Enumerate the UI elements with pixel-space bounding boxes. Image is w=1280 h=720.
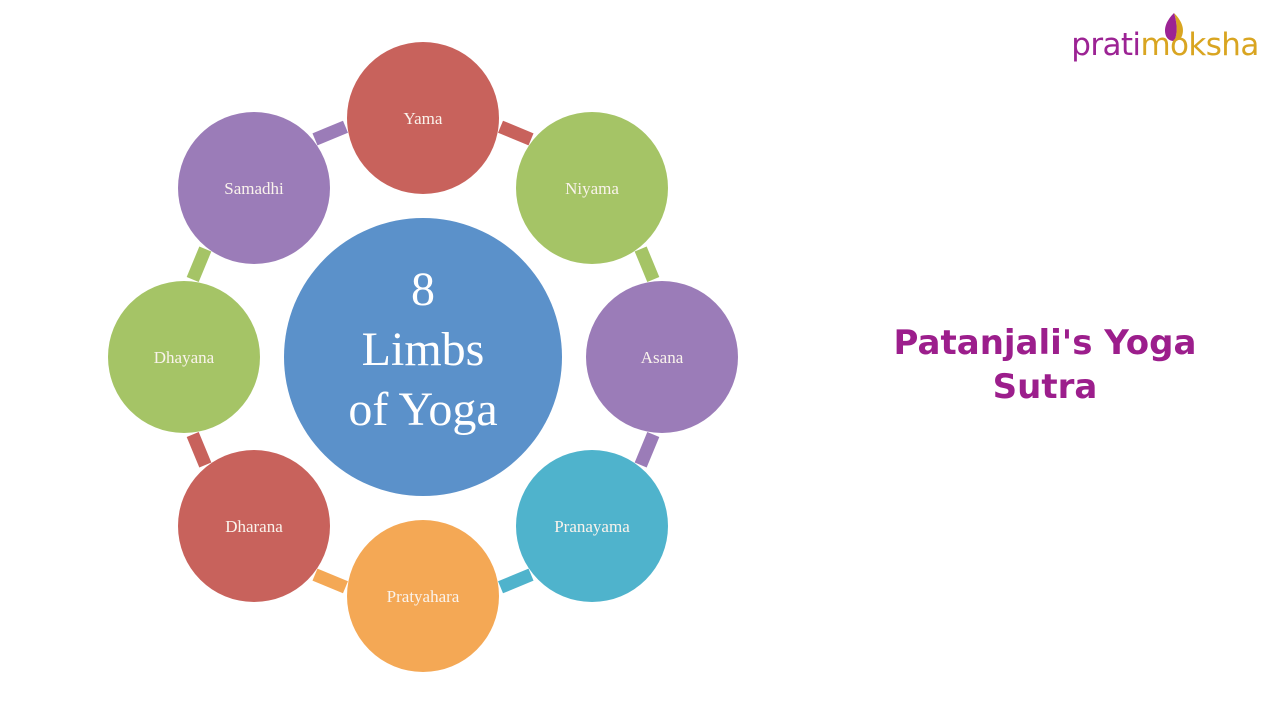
node-label-asana: Asana — [641, 348, 684, 367]
node-asana[interactable]: Asana — [586, 281, 738, 433]
node-label-pranayama: Pranayama — [554, 517, 630, 536]
connector-pratyahara-to-dharana — [312, 569, 347, 594]
center-label-line-3: of Yoga — [348, 383, 497, 436]
eight-limbs-diagram: YamaNiyamaAsanaPranayamaPratyaharaDharan… — [85, 10, 775, 710]
node-samadhi[interactable]: Samadhi — [178, 112, 330, 264]
connector-yama-to-niyama — [498, 121, 533, 146]
logo-wordmark: pratimoksha — [1060, 30, 1270, 61]
node-dhayana[interactable]: Dhayana — [108, 281, 260, 433]
connector-niyama-to-asana — [635, 246, 660, 281]
center-label-line-2: Limbs — [362, 323, 485, 376]
center-label-line-1: 8 — [411, 263, 435, 316]
node-label-yama: Yama — [404, 109, 443, 128]
connector-samadhi-to-yama — [312, 121, 347, 146]
node-yama[interactable]: Yama — [347, 42, 499, 194]
page-title: Patanjali's Yoga Sutra — [845, 322, 1245, 409]
node-pranayama[interactable]: Pranayama — [516, 450, 668, 602]
connector-dharana-to-dhayana — [187, 432, 212, 467]
page-title-line-2: Sutra — [845, 366, 1245, 410]
node-label-niyama: Niyama — [565, 179, 619, 198]
connector-asana-to-pranayama — [635, 432, 660, 467]
node-dharana[interactable]: Dharana — [178, 450, 330, 602]
node-label-samadhi: Samadhi — [224, 179, 284, 198]
node-label-dharana: Dharana — [225, 517, 283, 536]
node-label-dhayana: Dhayana — [154, 348, 215, 367]
connector-pranayama-to-pratyahara — [498, 569, 533, 594]
page-title-line-1: Patanjali's Yoga — [845, 322, 1245, 366]
node-niyama[interactable]: Niyama — [516, 112, 668, 264]
node-label-pratyahara: Pratyahara — [387, 587, 460, 606]
connector-dhayana-to-samadhi — [187, 246, 212, 281]
logo-text-moksha: moksha — [1140, 27, 1258, 63]
brand-logo: pratimoksha — [1060, 10, 1270, 72]
center-node[interactable]: 8 Limbs of Yoga — [284, 218, 562, 496]
node-pratyahara[interactable]: Pratyahara — [347, 520, 499, 672]
logo-text-prati: prati — [1071, 27, 1140, 63]
